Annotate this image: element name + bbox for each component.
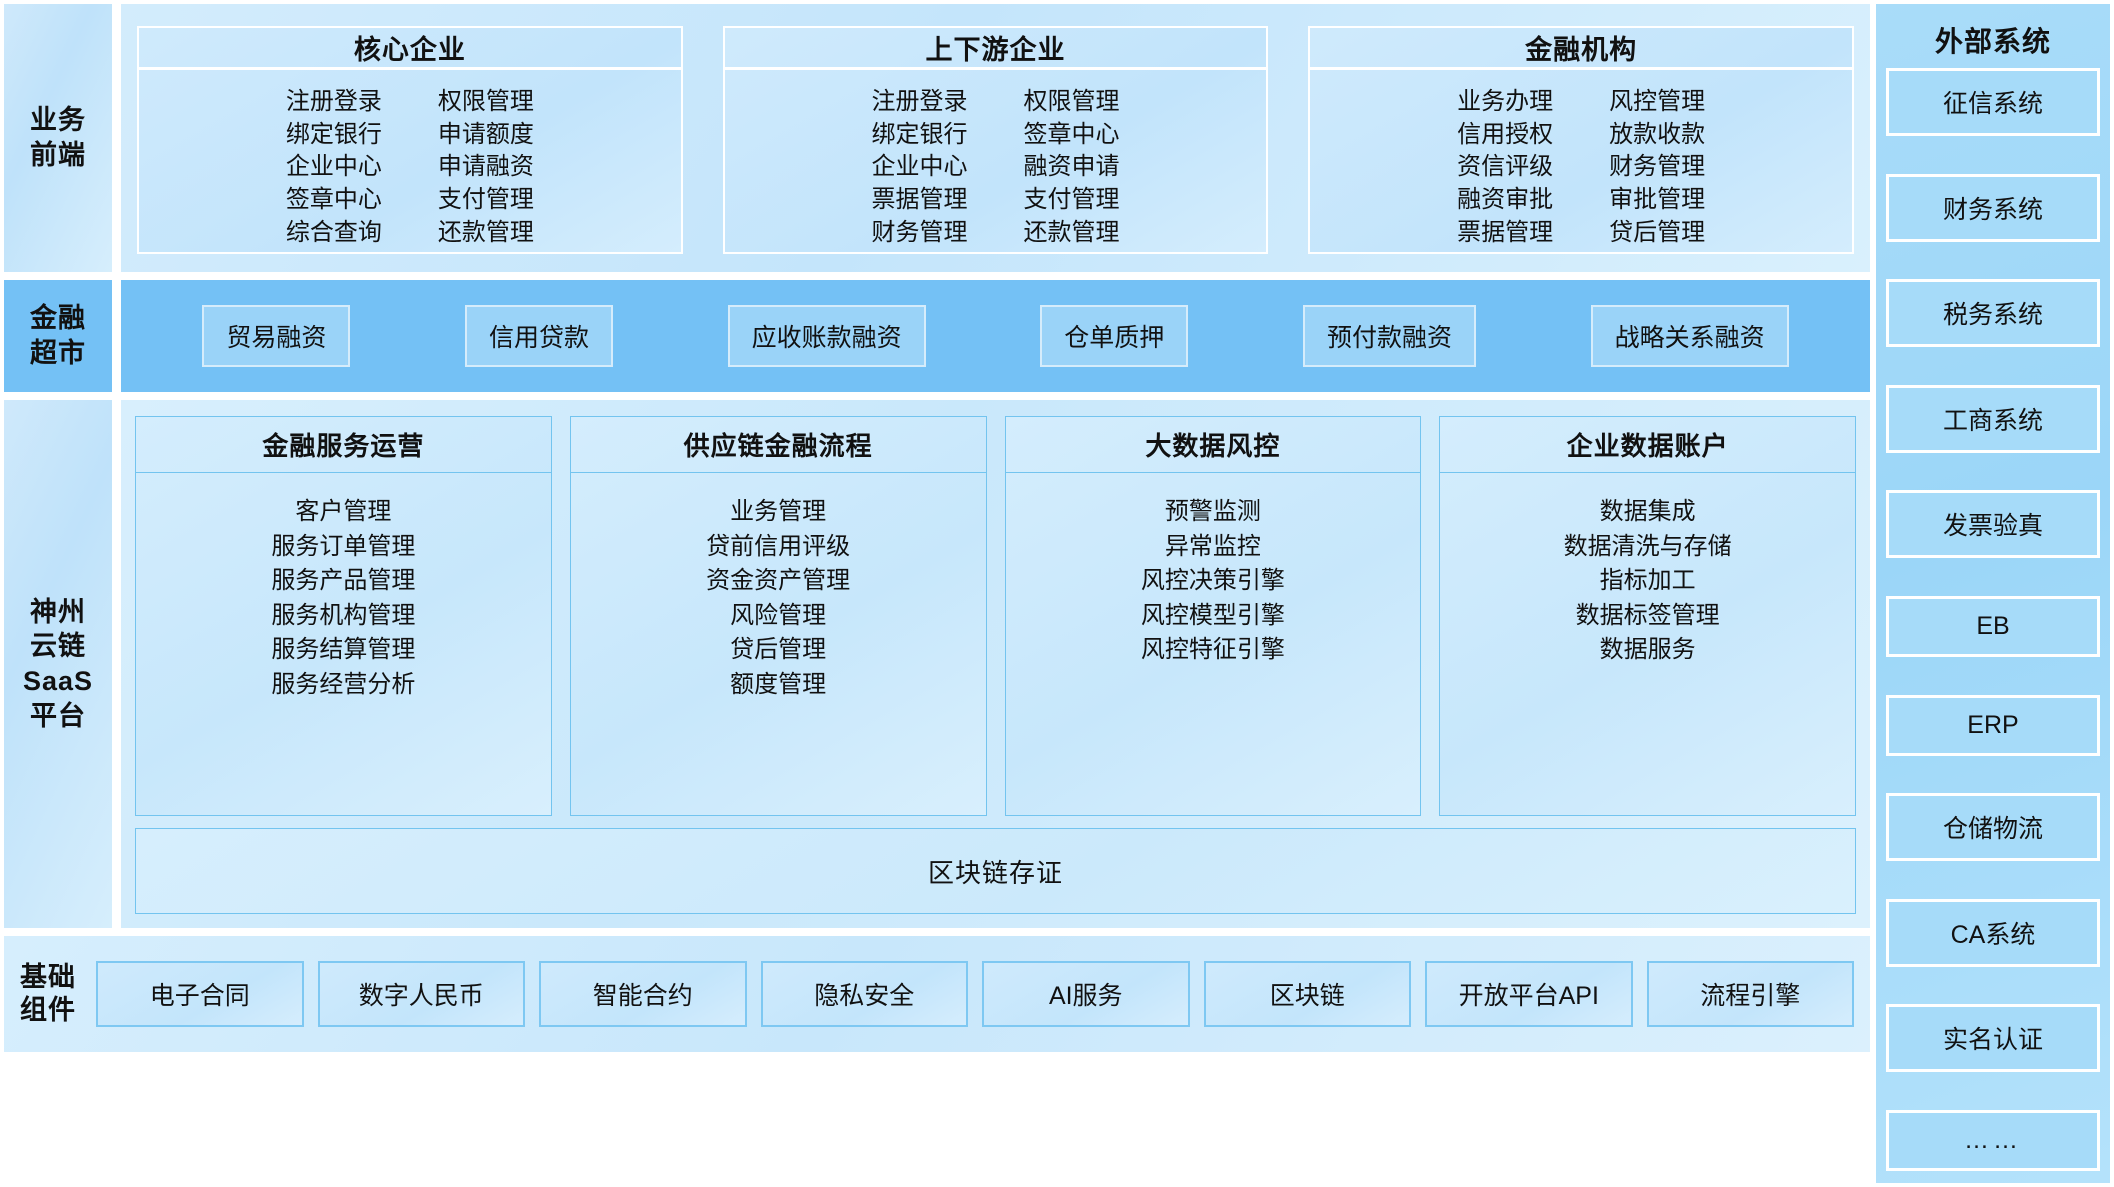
external-system-chip[interactable]: 仓储物流 bbox=[1886, 793, 2100, 861]
finance-product-chip[interactable]: 贸易融资 bbox=[202, 305, 350, 367]
saas-item: 指标加工 bbox=[1600, 564, 1696, 599]
frontend-item: 票据管理 bbox=[872, 184, 968, 217]
saas-card-big-data-risk-control[interactable]: 大数据风控 预警监测 异常监控 风控决策引擎 风控模型引擎 风控特征引擎 bbox=[1005, 416, 1422, 816]
saas-item: 资金资产管理 bbox=[706, 564, 850, 599]
frontend-item: 注册登录 bbox=[872, 86, 968, 119]
saas-item: 数据集成 bbox=[1600, 495, 1696, 530]
band-label-saas-platform: 神州 云链 SaaS 平台 bbox=[4, 400, 112, 928]
finance-product-chip[interactable]: 信用贷款 bbox=[465, 305, 613, 367]
external-system-chip[interactable]: 实名认证 bbox=[1886, 1004, 2100, 1072]
frontend-item: 财务管理 bbox=[872, 217, 968, 250]
frontend-card-column-2: 权限管理 签章中心 融资申请 支付管理 还款管理 bbox=[1024, 86, 1120, 249]
saas-item: 异常监控 bbox=[1165, 530, 1261, 565]
saas-item: 预警监测 bbox=[1165, 495, 1261, 530]
saas-card-body: 数据集成 数据清洗与存储 指标加工 数据标签管理 数据服务 bbox=[1440, 473, 1855, 815]
frontend-item: 企业中心 bbox=[286, 151, 382, 184]
base-component-chip[interactable]: 开放平台API bbox=[1425, 961, 1633, 1027]
base-component-chip[interactable]: 智能合约 bbox=[539, 961, 747, 1027]
frontend-item: 综合查询 bbox=[286, 217, 382, 250]
saas-card-body: 客户管理 服务订单管理 服务产品管理 服务机构管理 服务结算管理 服务经营分析 bbox=[136, 473, 551, 815]
frontend-item: 资信评级 bbox=[1457, 151, 1553, 184]
frontend-item: 权限管理 bbox=[438, 86, 534, 119]
band-label-finance-market: 金融 超市 bbox=[4, 280, 112, 392]
saas-card-title: 金融服务运营 bbox=[136, 417, 551, 473]
band-body-saas-platform: 金融服务运营 客户管理 服务订单管理 服务产品管理 服务机构管理 服务结算管理 … bbox=[121, 400, 1870, 928]
base-component-chip[interactable]: 数字人民币 bbox=[318, 961, 526, 1027]
frontend-card-body: 注册登录 绑定银行 企业中心 票据管理 财务管理 权限管理 签章中心 融资申请 … bbox=[725, 70, 1267, 259]
external-systems-panel: 外部系统 征信系统 财务系统 税务系统 工商系统 发票验真 EB ERP 仓储物… bbox=[1876, 4, 2110, 1183]
band-finance-market: 金融 超市 贸易融资 信用贷款 应收账款融资 仓单质押 预付款融资 战略关系融资 bbox=[4, 280, 1870, 392]
blockchain-evidence-bar[interactable]: 区块链存证 bbox=[135, 828, 1856, 914]
frontend-card-title: 上下游企业 bbox=[725, 28, 1267, 70]
band-body-base-components: 基础 组件 电子合同 数字人民币 智能合约 隐私安全 AI服务 区块链 开放平台… bbox=[4, 936, 1870, 1052]
base-component-chip[interactable]: AI服务 bbox=[982, 961, 1190, 1027]
frontend-card-core-enterprise[interactable]: 核心企业 注册登录 绑定银行 企业中心 签章中心 综合查询 权限管理 申请额度 bbox=[137, 26, 683, 254]
frontend-item: 贷后管理 bbox=[1609, 217, 1705, 250]
saas-item: 额度管理 bbox=[730, 668, 826, 703]
saas-card-body: 预警监测 异常监控 风控决策引擎 风控模型引擎 风控特征引擎 bbox=[1006, 473, 1421, 815]
band-saas-platform: 神州 云链 SaaS 平台 金融服务运营 客户管理 服务订单管理 服务产品管理 … bbox=[4, 400, 1870, 928]
frontend-item: 签章中心 bbox=[286, 184, 382, 217]
saas-item: 风险管理 bbox=[730, 599, 826, 634]
finance-product-chip[interactable]: 仓单质押 bbox=[1040, 305, 1188, 367]
external-system-chip[interactable]: 征信系统 bbox=[1886, 68, 2100, 136]
base-component-chip-list: 电子合同 数字人民币 智能合约 隐私安全 AI服务 区块链 开放平台API 流程… bbox=[96, 961, 1854, 1027]
external-system-chip[interactable]: 财务系统 bbox=[1886, 174, 2100, 242]
external-system-chip[interactable]: 税务系统 bbox=[1886, 279, 2100, 347]
finance-product-chip[interactable]: 战略关系融资 bbox=[1591, 305, 1789, 367]
architecture-diagram: 业务 前端 核心企业 注册登录 绑定银行 企业中心 签章中心 综合查询 权限管 bbox=[0, 0, 2114, 1187]
frontend-item: 企业中心 bbox=[872, 151, 968, 184]
frontend-card-column-2: 风控管理 放款收款 财务管理 审批管理 贷后管理 bbox=[1609, 86, 1705, 249]
frontend-card-column-1: 注册登录 绑定银行 企业中心 签章中心 综合查询 bbox=[286, 86, 382, 249]
saas-card-title: 大数据风控 bbox=[1006, 417, 1421, 473]
base-component-chip[interactable]: 隐私安全 bbox=[761, 961, 969, 1027]
frontend-card-title: 核心企业 bbox=[139, 28, 681, 70]
saas-item: 风控模型引擎 bbox=[1141, 599, 1285, 634]
frontend-card-financial-institution[interactable]: 金融机构 业务办理 信用授权 资信评级 融资审批 票据管理 风控管理 放款收款 bbox=[1308, 26, 1854, 254]
saas-item: 服务结算管理 bbox=[271, 633, 415, 668]
frontend-item: 签章中心 bbox=[1024, 119, 1120, 152]
frontend-card-body: 注册登录 绑定银行 企业中心 签章中心 综合查询 权限管理 申请额度 申请融资 … bbox=[139, 70, 681, 259]
frontend-item: 融资审批 bbox=[1457, 184, 1553, 217]
frontend-item: 注册登录 bbox=[286, 86, 382, 119]
frontend-item: 放款收款 bbox=[1609, 119, 1705, 152]
frontend-card-column-2: 权限管理 申请额度 申请融资 支付管理 还款管理 bbox=[438, 86, 534, 249]
frontend-item: 财务管理 bbox=[1609, 151, 1705, 184]
band-label-base-components: 基础 组件 bbox=[20, 961, 82, 1027]
band-label-business-frontend: 业务 前端 bbox=[4, 4, 112, 272]
saas-card-enterprise-data-account[interactable]: 企业数据账户 数据集成 数据清洗与存储 指标加工 数据标签管理 数据服务 bbox=[1439, 416, 1856, 816]
saas-card-title: 企业数据账户 bbox=[1440, 417, 1855, 473]
saas-item: 业务管理 bbox=[730, 495, 826, 530]
base-component-chip[interactable]: 流程引擎 bbox=[1647, 961, 1855, 1027]
saas-card-supply-chain-finance-process[interactable]: 供应链金融流程 业务管理 贷前信用评级 资金资产管理 风险管理 贷后管理 额度管… bbox=[570, 416, 987, 816]
frontend-item: 还款管理 bbox=[1024, 217, 1120, 250]
finance-product-chip[interactable]: 应收账款融资 bbox=[728, 305, 926, 367]
frontend-item: 绑定银行 bbox=[286, 119, 382, 152]
saas-item: 客户管理 bbox=[295, 495, 391, 530]
base-component-chip[interactable]: 电子合同 bbox=[96, 961, 304, 1027]
frontend-card-title: 金融机构 bbox=[1310, 28, 1852, 70]
band-body-business-frontend: 核心企业 注册登录 绑定银行 企业中心 签章中心 综合查询 权限管理 申请额度 bbox=[121, 4, 1870, 272]
saas-item: 风控决策引擎 bbox=[1141, 564, 1285, 599]
external-systems-list: 征信系统 财务系统 税务系统 工商系统 发票验真 EB ERP 仓储物流 CA系… bbox=[1886, 68, 2100, 1175]
saas-item: 服务经营分析 bbox=[271, 668, 415, 703]
external-system-chip[interactable]: CA系统 bbox=[1886, 899, 2100, 967]
frontend-item: 权限管理 bbox=[1024, 86, 1120, 119]
external-system-chip[interactable]: 工商系统 bbox=[1886, 385, 2100, 453]
frontend-item: 信用授权 bbox=[1457, 119, 1553, 152]
frontend-item: 绑定银行 bbox=[872, 119, 968, 152]
saas-card-financial-service-operation[interactable]: 金融服务运营 客户管理 服务订单管理 服务产品管理 服务机构管理 服务结算管理 … bbox=[135, 416, 552, 816]
band-business-frontend: 业务 前端 核心企业 注册登录 绑定银行 企业中心 签章中心 综合查询 权限管 bbox=[4, 4, 1870, 272]
frontend-item: 风控管理 bbox=[1609, 86, 1705, 119]
saas-card-body: 业务管理 贷前信用评级 资金资产管理 风险管理 贷后管理 额度管理 bbox=[571, 473, 986, 815]
saas-item: 数据服务 bbox=[1600, 633, 1696, 668]
saas-item: 数据标签管理 bbox=[1576, 599, 1720, 634]
band-base-components: 基础 组件 电子合同 数字人民币 智能合约 隐私安全 AI服务 区块链 开放平台… bbox=[4, 936, 1870, 1052]
saas-card-title: 供应链金融流程 bbox=[571, 417, 986, 473]
saas-item: 风控特征引擎 bbox=[1141, 633, 1285, 668]
frontend-item: 业务办理 bbox=[1457, 86, 1553, 119]
frontend-item: 票据管理 bbox=[1457, 217, 1553, 250]
external-system-chip[interactable]: EB bbox=[1886, 596, 2100, 657]
frontend-item: 支付管理 bbox=[1024, 184, 1120, 217]
frontend-card-body: 业务办理 信用授权 资信评级 融资审批 票据管理 风控管理 放款收款 财务管理 … bbox=[1310, 70, 1852, 259]
frontend-item: 融资申请 bbox=[1024, 151, 1120, 184]
saas-item: 贷后管理 bbox=[730, 633, 826, 668]
external-system-chip[interactable]: 发票验真 bbox=[1886, 490, 2100, 558]
frontend-item: 申请额度 bbox=[438, 119, 534, 152]
main-stack: 业务 前端 核心企业 注册登录 绑定银行 企业中心 签章中心 综合查询 权限管 bbox=[0, 0, 1876, 1187]
saas-item: 服务订单管理 bbox=[271, 530, 415, 565]
saas-item: 贷前信用评级 bbox=[706, 530, 850, 565]
base-component-chip[interactable]: 区块链 bbox=[1204, 961, 1412, 1027]
frontend-item: 申请融资 bbox=[438, 151, 534, 184]
band-body-finance-market: 贸易融资 信用贷款 应收账款融资 仓单质押 预付款融资 战略关系融资 bbox=[121, 280, 1870, 392]
finance-product-chip[interactable]: 预付款融资 bbox=[1303, 305, 1476, 367]
external-system-chip-more[interactable]: …… bbox=[1886, 1110, 2100, 1171]
saas-item: 服务机构管理 bbox=[271, 599, 415, 634]
frontend-item: 审批管理 bbox=[1609, 184, 1705, 217]
external-system-chip[interactable]: ERP bbox=[1886, 695, 2100, 756]
frontend-card-upstream-downstream[interactable]: 上下游企业 注册登录 绑定银行 企业中心 票据管理 财务管理 权限管理 签章中心 bbox=[723, 26, 1269, 254]
saas-item: 数据清洗与存储 bbox=[1564, 530, 1732, 565]
saas-item: 服务产品管理 bbox=[271, 564, 415, 599]
frontend-card-column-1: 业务办理 信用授权 资信评级 融资审批 票据管理 bbox=[1457, 86, 1553, 249]
external-systems-title: 外部系统 bbox=[1935, 10, 2051, 68]
frontend-item: 还款管理 bbox=[438, 217, 534, 250]
frontend-card-column-1: 注册登录 绑定银行 企业中心 票据管理 财务管理 bbox=[872, 86, 968, 249]
saas-card-row: 金融服务运营 客户管理 服务订单管理 服务产品管理 服务机构管理 服务结算管理 … bbox=[135, 416, 1856, 816]
frontend-item: 支付管理 bbox=[438, 184, 534, 217]
